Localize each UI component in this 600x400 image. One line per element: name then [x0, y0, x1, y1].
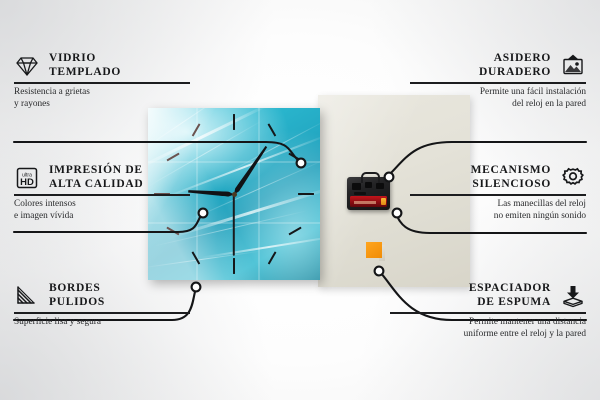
feature-title: ASIDERO DURADERO [479, 52, 551, 79]
feature-title: BORDES PULIDOS [49, 282, 105, 309]
feature-asidero-duradero[interactable]: ASIDERO DURADERO Permite una fácil insta… [396, 52, 586, 111]
feature-rule [390, 312, 586, 314]
callout-dot-asidero [385, 173, 394, 182]
feature-impresion-alta-calidad[interactable]: ultra HD IMPRESIÓN DE ALTA CALIDAD Color… [14, 164, 210, 223]
foam-spacer-icon [560, 284, 586, 308]
feature-subtitle: Permite una fácil instalación del reloj … [396, 87, 586, 111]
diamond-icon [14, 54, 40, 78]
callout-dot-espaciador [375, 267, 384, 276]
feature-title: MECANISMO SILENCIOSO [471, 164, 551, 191]
feature-subtitle: Permite mantener una distancia uniforme … [376, 317, 586, 341]
feature-title: IMPRESIÓN DE ALTA CALIDAD [49, 164, 143, 191]
feature-title: VIDRIO TEMPLADO [49, 52, 121, 79]
feature-subtitle: Superficie lisa y segura [14, 317, 204, 329]
callout-dot-vidrio-templado [297, 159, 306, 168]
feature-title: ESPACIADOR DE ESPUMA [469, 282, 551, 309]
svg-text:HD: HD [20, 176, 34, 187]
feature-subtitle: Resistencia a grietas y rayones [14, 87, 204, 111]
feature-rule [14, 194, 190, 196]
feature-subtitle: Las manecillas del reloj no emiten ningú… [396, 199, 586, 223]
feature-rule [14, 82, 190, 84]
gear-icon [560, 166, 586, 190]
feature-rule [14, 312, 190, 314]
infographic-canvas: VIDRIO TEMPLADO Resistencia a grietas y … [0, 0, 600, 400]
feature-mecanismo-silencioso[interactable]: MECANISMO SILENCIOSO Las manecillas del … [396, 164, 586, 223]
ultra-hd-icon: ultra HD [14, 166, 40, 190]
feature-vidrio-templado[interactable]: VIDRIO TEMPLADO Resistencia a grietas y … [14, 52, 204, 111]
feature-rule [410, 82, 586, 84]
feature-espaciador-de-espuma[interactable]: ESPACIADOR DE ESPUMA Permite mantener un… [376, 282, 586, 341]
polished-edge-icon [14, 284, 40, 308]
picture-frame-icon [560, 54, 586, 78]
feature-rule [410, 194, 586, 196]
feature-bordes-pulidos[interactable]: BORDES PULIDOS Superficie lisa y segura [14, 282, 204, 329]
feature-subtitle: Colores intensos e imagen vívida [14, 199, 210, 223]
